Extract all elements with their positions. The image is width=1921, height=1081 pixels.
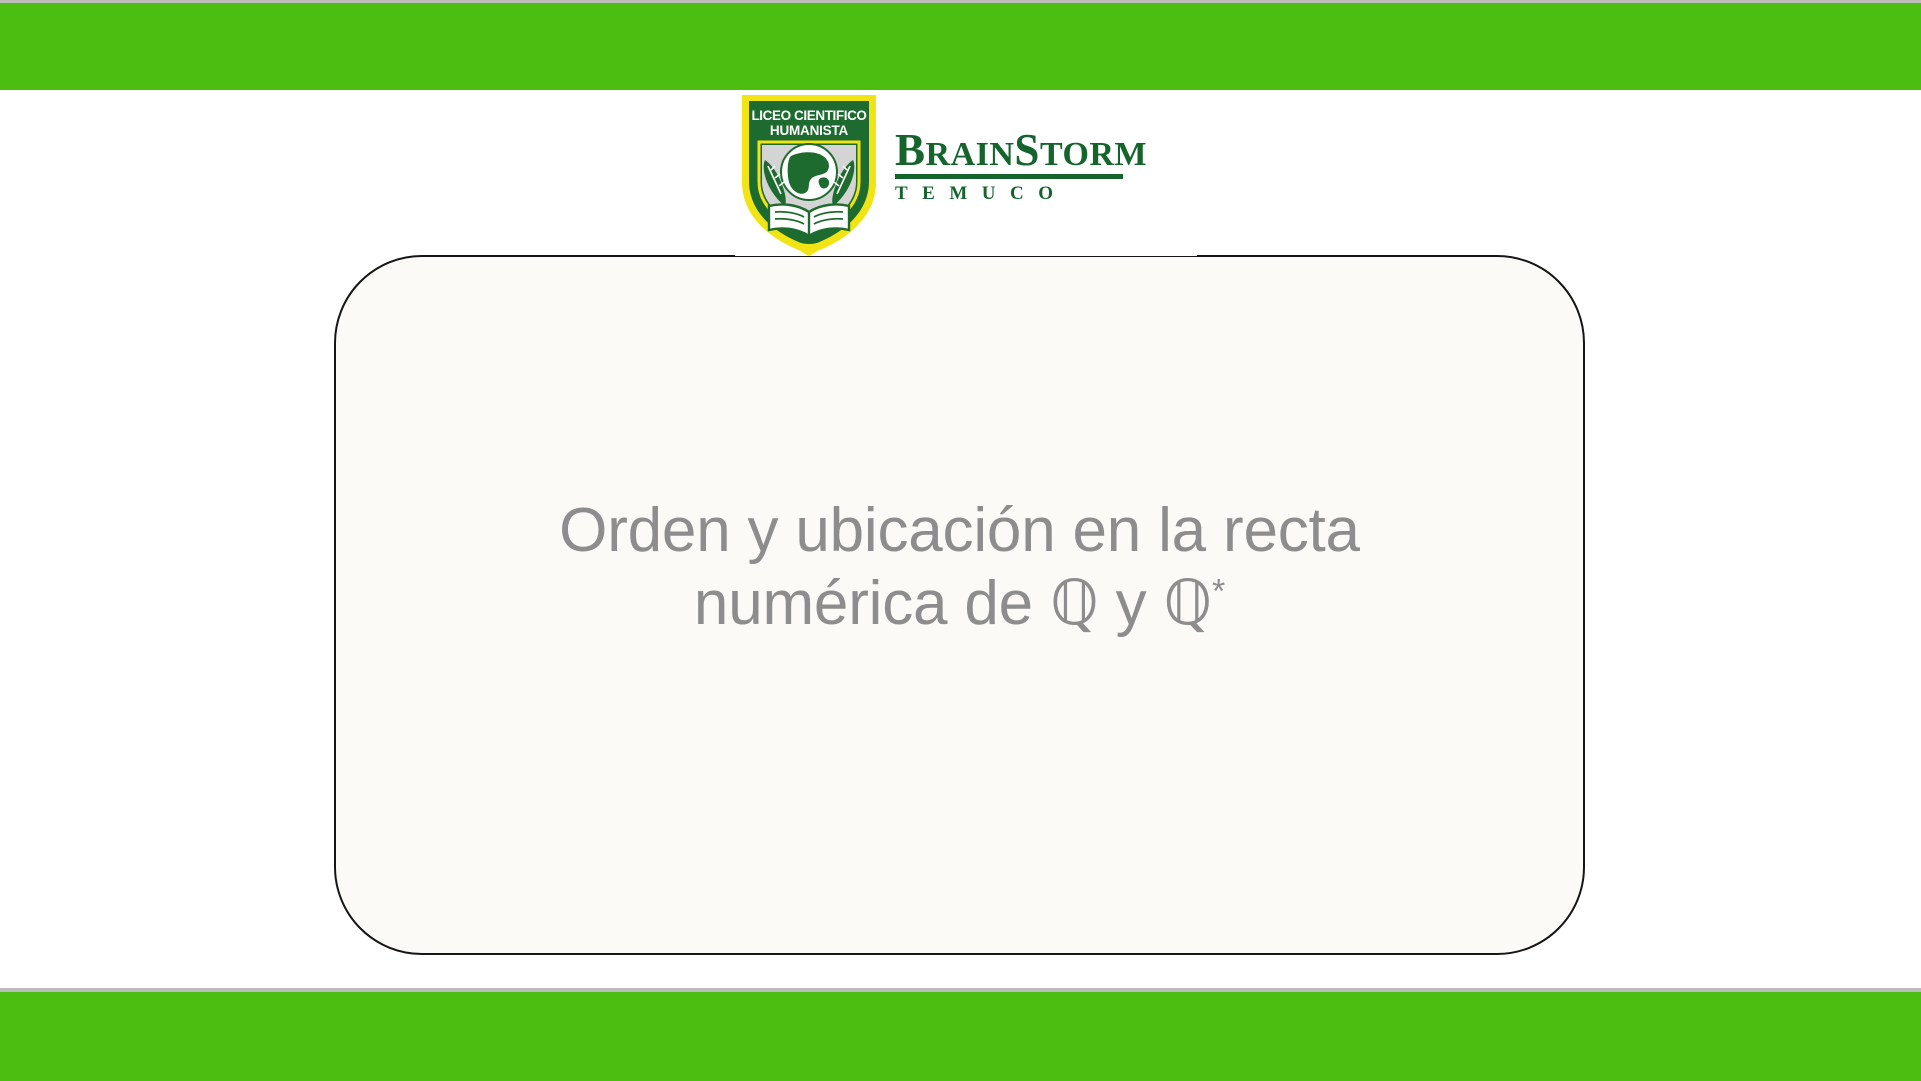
slide-title-line-2-prefix: numérica de [694, 569, 1050, 638]
wordmark-letter-s: S [1014, 125, 1040, 175]
school-logo: LICEO CIENTIFICO HUMANISTA [735, 90, 1197, 256]
bottom-green-band [0, 992, 1921, 1081]
brainstorm-wordmark: BRAINSTORM TEMUCO [883, 90, 1197, 205]
svg-text:LICEO CIENTIFICO: LICEO CIENTIFICO [751, 108, 866, 123]
shield-crest-icon: LICEO CIENTIFICO HUMANISTA [735, 90, 883, 256]
rationals-symbol-q: ℚ [1050, 566, 1099, 639]
wordmark-text: BRAINSTORM [895, 128, 1197, 172]
svg-text:HUMANISTA: HUMANISTA [770, 123, 849, 138]
top-green-band [0, 3, 1921, 90]
slide-root: Orden y ubicación en la recta numérica d… [0, 0, 1921, 1081]
rationals-symbol-q-star: ℚ [1163, 566, 1212, 639]
slide-title-line-1: Orden y ubicación en la recta [559, 496, 1360, 565]
wordmark-torm: TORM [1040, 136, 1147, 173]
slide-title: Orden y ubicación en la recta numérica d… [460, 495, 1460, 640]
wordmark-rain: RAIN [926, 136, 1015, 173]
slide-title-conjunction: y [1099, 569, 1164, 638]
wordmark-subtitle: TEMUCO [895, 183, 1197, 205]
rationals-symbol-asterisk: * [1212, 572, 1225, 610]
content-card: Orden y ubicación en la recta numérica d… [334, 255, 1585, 955]
wordmark-letter-b: B [895, 125, 926, 175]
wordmark-underline-rule [895, 174, 1123, 179]
